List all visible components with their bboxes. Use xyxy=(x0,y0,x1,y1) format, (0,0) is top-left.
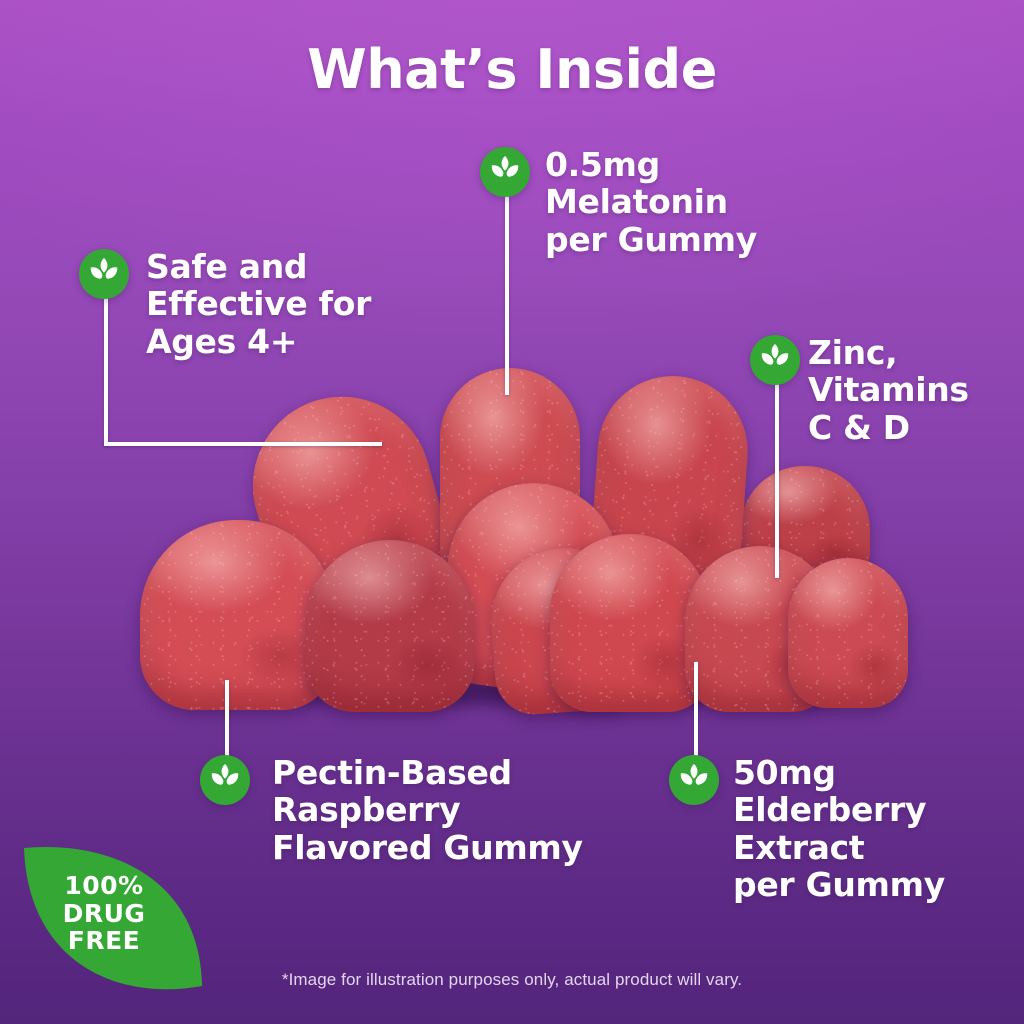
connector-line-zinc-vitamins xyxy=(775,380,779,578)
leaf-sprout-icon xyxy=(199,754,251,806)
gummy-pile-photo xyxy=(140,368,885,703)
gummy-piece xyxy=(305,540,475,712)
connector-line-safe-effective xyxy=(104,296,108,446)
drug-free-label: 100% DRUG FREE xyxy=(38,872,170,955)
callout-label-melatonin: 0.5mg Melatonin per Gummy xyxy=(545,146,757,258)
leaf-sprout-icon xyxy=(479,146,531,198)
callout-label-zinc-vitamins: Zinc, Vitamins C & D xyxy=(808,334,969,446)
connector-line-melatonin xyxy=(505,190,509,395)
infographic-canvas: What’s Inside Safe and Effective for Age… xyxy=(0,0,1024,1024)
leaf-sprout-icon xyxy=(78,248,130,300)
callout-label-safe-effective: Safe and Effective for Ages 4+ xyxy=(146,248,371,360)
leaf-sprout-icon xyxy=(749,334,801,386)
callout-label-pectin-raspberry: Pectin-Based Raspberry Flavored Gummy xyxy=(272,754,583,866)
disclaimer-text: *Image for illustration purposes only, a… xyxy=(0,970,1024,990)
gummy-piece xyxy=(788,558,908,708)
connector-line-safe-effective-horizontal xyxy=(104,442,382,446)
leaf-sprout-icon xyxy=(668,754,720,806)
page-title: What’s Inside xyxy=(0,38,1024,101)
callout-label-elderberry: 50mg Elderberry Extract per Gummy xyxy=(733,754,945,903)
